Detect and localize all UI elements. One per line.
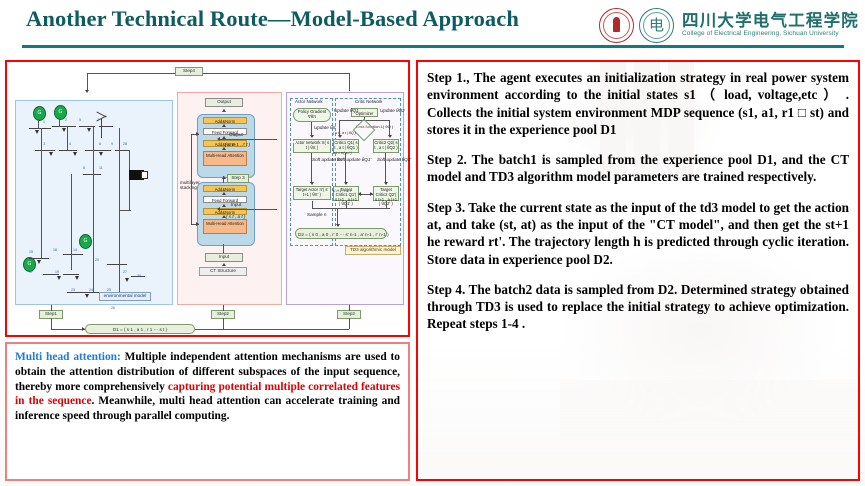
d2-pool-node: D2 = ( s 0 , a 0 , r′ 0 ⋯ s′ n-1 , a′ n-… — [295, 228, 387, 239]
logo-wordmark: 四川大学电气工程学院 College of Electrical Enginee… — [682, 13, 859, 38]
diagram-step4-tag: Step4 — [175, 67, 203, 76]
ct-input-label: Input — [231, 202, 241, 207]
sample-n-label: Sample n — [307, 212, 326, 217]
target-critic2-node: Target Critic2 Q2′( s t+1 , a t+1 | θQ2′… — [373, 186, 399, 201]
actor-network-node: Actor network π( s t | θπ ) — [293, 139, 331, 153]
ct-output-expression: ( s′ t+1 , r′ t ) — [225, 142, 250, 147]
note-paragraph: Multi head attention: Multiple independe… — [15, 350, 400, 424]
architecture-diagram: Step4 G G G G 1 2 — [5, 60, 410, 337]
critic-edge-at-label: a t = π( s t ) — [333, 152, 352, 156]
critic-network-title: Critic Network — [355, 100, 382, 105]
step-4-paragraph: Step 4. The batch2 data is sampled from … — [427, 281, 849, 333]
college-seal-icon: 电 — [639, 8, 674, 43]
critic2-node: Critic2 Q2( s t , a t | θQ2 ) — [373, 139, 399, 153]
sichuan-university-seal-icon — [599, 8, 634, 43]
critic-update-left-label: Update θQ1 — [334, 108, 359, 113]
multi-head-attention-note: Multi head attention: Multiple independe… — [5, 342, 410, 481]
target-actor-node: Target Actor π′( s′ t+1 | θπ′ ) — [293, 186, 331, 200]
transformer-output-tag: Output — [205, 98, 243, 107]
actor-network-title: Actor Network — [295, 100, 323, 105]
slide-header: Another Technical Route—Model-Based Appr… — [0, 0, 865, 56]
step-3-paragraph: Step 3. Take the current state as the in… — [427, 199, 849, 268]
add-norm-row: Add&Norm — [203, 185, 247, 192]
critic-update-right-label: Update θQ2 — [380, 108, 405, 113]
logo-english-name: College of Electrical Engineering, Sichu… — [682, 31, 859, 38]
header-divider — [22, 45, 844, 48]
ct-output-label: Output — [229, 132, 243, 137]
ct-input-expression: ( s t , a t ) — [226, 214, 245, 219]
diagram-step3-tag: Step 3 — [227, 174, 249, 183]
ct-structure-label: CT Structure — [199, 267, 247, 276]
multilayer-stacking-label: multilayer stacking — [180, 180, 198, 190]
critic-edge-sr-label: s′ t+1 , r = r′ — [333, 190, 352, 194]
policy-gradient-node: Policy Gradient ∇θπ — [293, 108, 331, 122]
environment-model-label: environmental model — [99, 292, 151, 301]
step-2-paragraph: Step 2. The batch1 is sampled from the e… — [427, 151, 849, 186]
step-1-paragraph: Step 1., The agent executes an initializ… — [427, 69, 849, 138]
critic-edge-sa-label: ( s t , a t | θQ ) — [333, 132, 356, 136]
d1-pool-node: D1 = ( s 1 , a 1 , r 1 ⋯ s t ) — [85, 324, 195, 334]
add-norm-row: Add&Norm — [203, 117, 247, 124]
multi-head-attention-row: Multi-Head Attention — [203, 151, 247, 166]
page-title: Another Technical Route—Model-Based Appr… — [26, 6, 519, 32]
generator-icon: G — [33, 106, 46, 121]
transformer-input-tag: Input — [205, 253, 243, 262]
actor-update-label: Update θπ — [314, 125, 336, 130]
critic2-soft-update-label: Soft update θQ2′ — [377, 157, 411, 162]
multi-head-attention-row: Multi-Head Attention — [203, 219, 247, 234]
logo-group: 电 四川大学电气工程学院 College of Electrical Engin… — [599, 5, 859, 45]
steps-panel: Step 1., The agent executes an initializ… — [416, 60, 860, 481]
td3-model-label: TD3 algorithmic model — [345, 246, 401, 255]
motor-load-icon — [129, 170, 144, 180]
note-lead: Multi head attention: — [15, 351, 121, 363]
generator-icon: G — [79, 234, 92, 249]
logo-chinese-name: 四川大学电气工程学院 — [682, 13, 859, 30]
critic1-soft-update-label: Soft update θQ1′ — [337, 157, 371, 162]
